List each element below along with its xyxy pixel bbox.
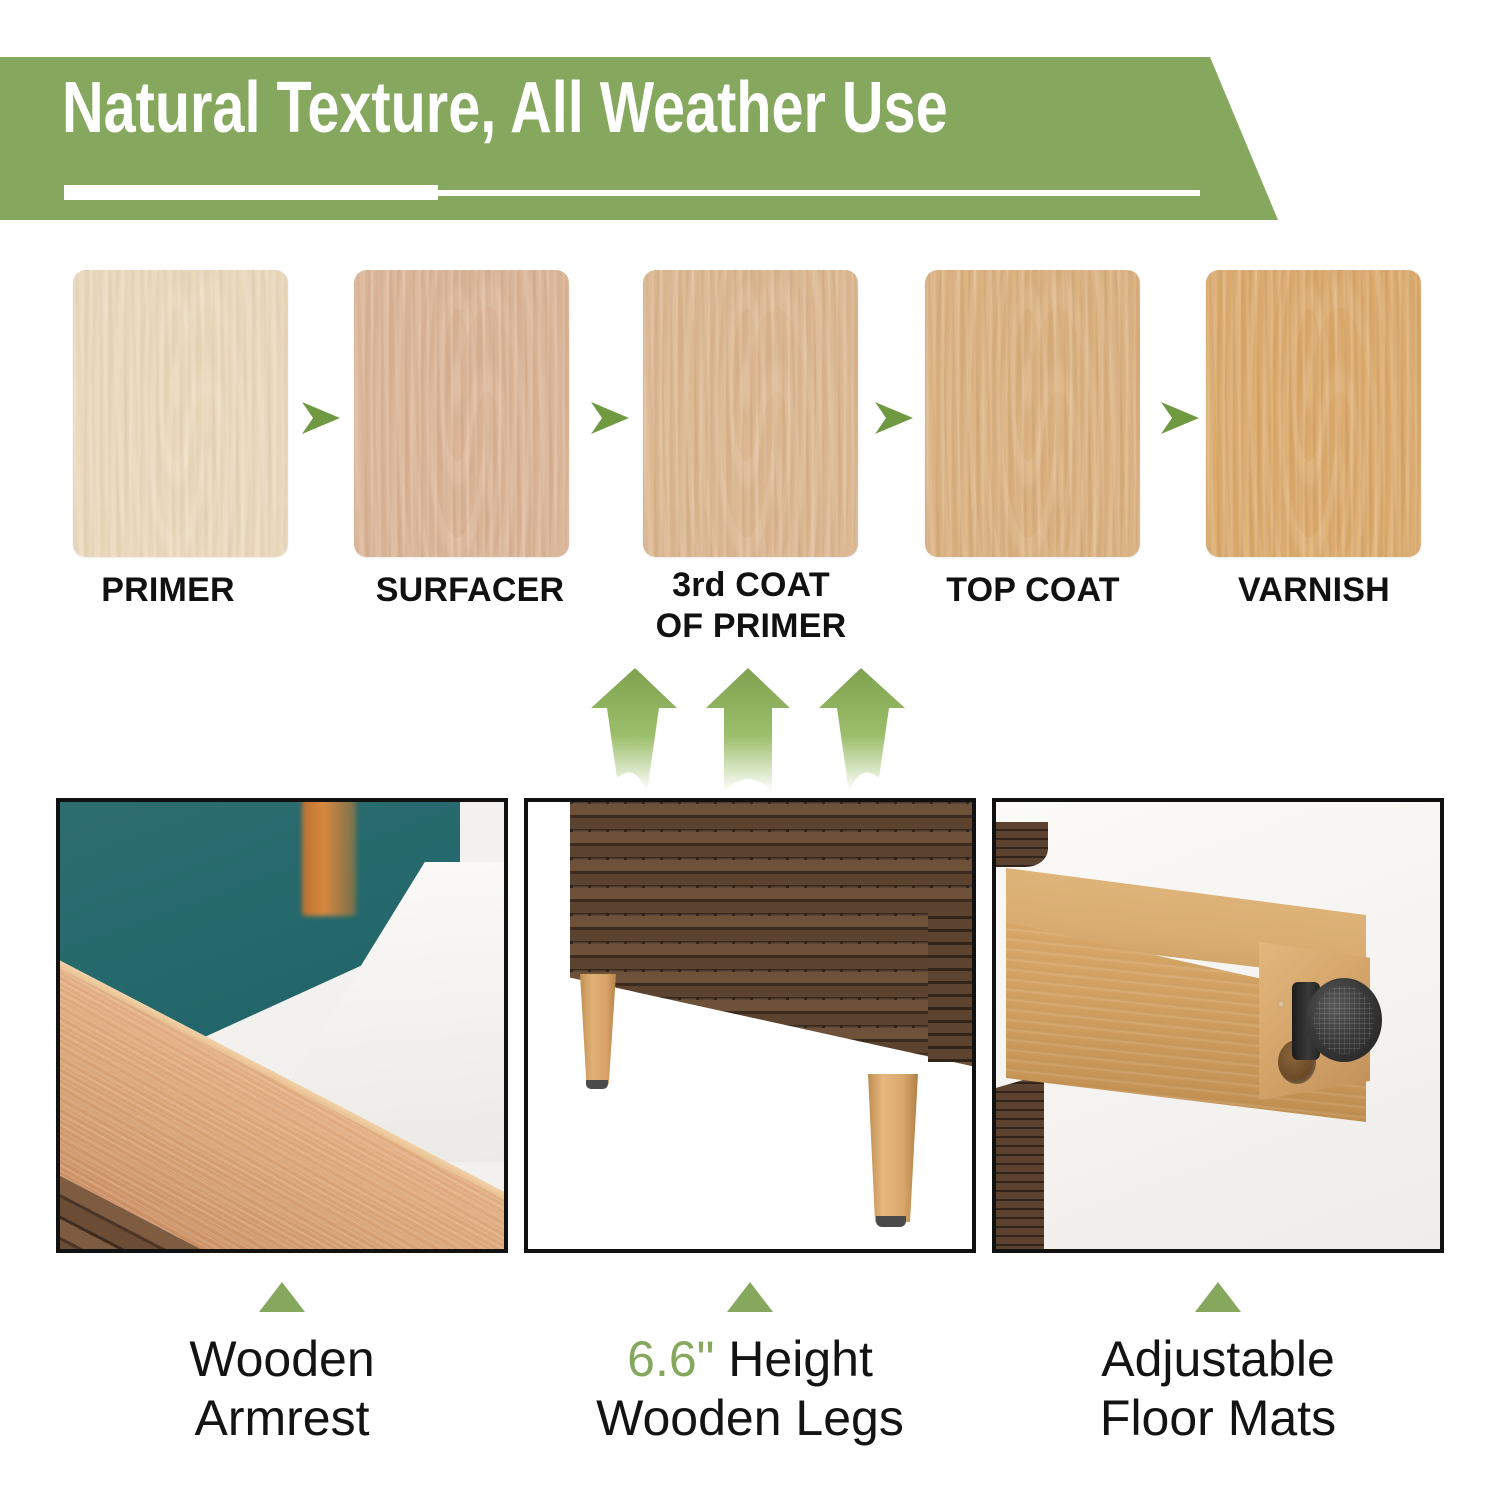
process-to-photo-arrows xyxy=(0,666,1500,796)
swatch-label-varnish: VARNISH xyxy=(1174,570,1454,611)
caption-highlight: 6.6" xyxy=(627,1331,714,1387)
screw-head-icon xyxy=(1277,1000,1285,1008)
page-title: Natural Texture, All Weather Use xyxy=(62,68,948,148)
adjustable-floor-mats-photo xyxy=(992,798,1444,1253)
swatch-third-coat-of-primer xyxy=(643,270,858,557)
swatch-label-primer: PRIMER xyxy=(28,570,308,611)
chevron-right-icon xyxy=(299,398,343,438)
rattan-corner-top xyxy=(992,822,1048,867)
header-rule-thin xyxy=(438,190,1200,196)
header-rule-thick xyxy=(64,185,438,200)
process-step-primer xyxy=(73,270,288,560)
wood-grain-overlay-2 xyxy=(354,270,569,557)
wooden-armrest-photo xyxy=(56,798,508,1253)
swatch-label-top-coat: TOP COAT xyxy=(893,570,1173,611)
process-step-top-coat xyxy=(925,270,1140,560)
caption-wooden-legs: 6.6" Height Wooden Legs xyxy=(520,1330,980,1448)
triangle-up-icon xyxy=(727,1282,773,1312)
swatch-top-coat xyxy=(925,270,1140,557)
coating-process-row: PRIMER SURFACER 3rd COAT OF PRIMER xyxy=(0,270,1500,570)
chevron-right-icon xyxy=(1158,398,1202,438)
rattan-side-panel xyxy=(928,912,972,1062)
swatch-surfacer xyxy=(354,270,569,557)
caption-line-1: Height xyxy=(714,1331,872,1387)
wood-grain-overlay-2 xyxy=(73,270,288,557)
triangle-up-icon xyxy=(1195,1282,1241,1312)
wooden-legs-photo xyxy=(524,798,976,1253)
caption-line-2: Armrest xyxy=(52,1389,512,1448)
infographic-page: Natural Texture, All Weather Use PRIMER … xyxy=(0,0,1500,1500)
leg-foot-left xyxy=(586,1080,608,1089)
process-step-varnish xyxy=(1206,270,1421,560)
arrow-up-icon xyxy=(573,666,689,792)
swatch-label-surfacer: SURFACER xyxy=(330,570,610,611)
leg-foot-right xyxy=(876,1216,906,1227)
chevron-right-icon xyxy=(588,398,632,438)
wooden-leg-right xyxy=(868,1074,918,1222)
wood-grain-overlay-2 xyxy=(643,270,858,557)
caption-line-2: Floor Mats xyxy=(988,1389,1448,1448)
arrow-up-icon xyxy=(807,666,923,792)
swatch-varnish xyxy=(1206,270,1421,557)
process-step-surfacer xyxy=(354,270,569,560)
swatch-primer xyxy=(73,270,288,557)
caption-line-1: Adjustable xyxy=(1101,1331,1335,1387)
arrow-up-icon xyxy=(690,666,806,792)
caption-wooden-armrest: Wooden Armrest xyxy=(52,1330,512,1448)
wood-grain-overlay-2 xyxy=(925,270,1140,557)
rattan-corner-bottom xyxy=(992,1074,1044,1253)
swatch-label-third-coat-of-primer: 3rd COAT OF PRIMER xyxy=(611,565,891,647)
process-step-third-coat xyxy=(643,270,858,560)
caption-line-1: Wooden xyxy=(189,1331,374,1387)
chevron-right-icon xyxy=(872,398,916,438)
triangle-up-icon xyxy=(259,1282,305,1312)
adjustable-floor-mat-knob xyxy=(1306,978,1382,1062)
caption-adjustable-floor-mats: Adjustable Floor Mats xyxy=(988,1330,1448,1448)
caption-line-2: Wooden Legs xyxy=(520,1389,980,1448)
background-leg xyxy=(302,798,356,916)
wood-grain-overlay-2 xyxy=(1206,270,1421,557)
